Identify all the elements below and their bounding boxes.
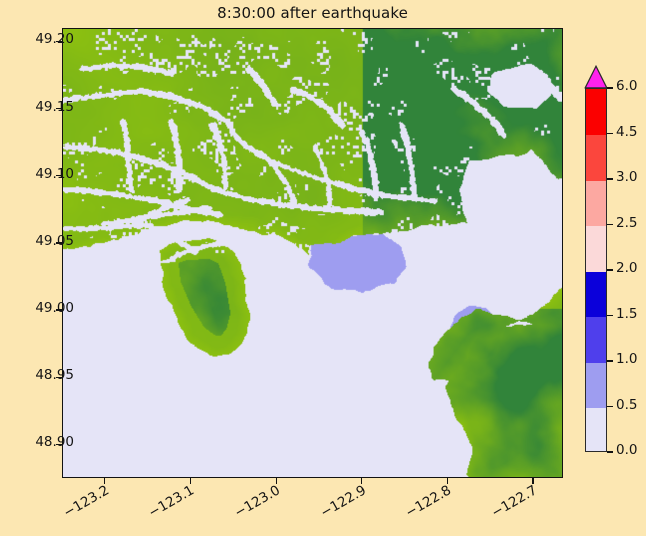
colorbar-segment (586, 271, 606, 317)
y-tick-label: 49.20 (35, 33, 74, 47)
colorbar-tick-mark (607, 406, 613, 407)
colorbar-segment (586, 135, 606, 181)
colorbar[interactable] (585, 88, 607, 452)
colorbar-segment (586, 89, 606, 135)
colorbar-segment (586, 408, 606, 453)
y-tick-label: 48.95 (35, 369, 74, 383)
colorbar-gradient (585, 88, 607, 452)
colorbar-extend-outline-icon (584, 65, 608, 89)
y-tick-label: 48.90 (35, 436, 74, 450)
colorbar-tick-mark (607, 224, 613, 225)
x-tick-label: −122.9 (308, 484, 368, 527)
y-tick-label: 49.15 (35, 101, 74, 115)
y-tick-label: 49.10 (35, 168, 74, 182)
x-tick-label: −123.1 (137, 484, 197, 527)
colorbar-segment (586, 362, 606, 408)
colorbar-tick-mark (607, 178, 613, 179)
map-raster (63, 29, 562, 477)
colorbar-tick-label: 0.0 (616, 444, 637, 458)
colorbar-tick-mark (607, 87, 613, 88)
x-tick-label: −122.7 (479, 484, 539, 527)
colorbar-tick-mark (607, 451, 613, 452)
y-tick-label: 49.00 (35, 302, 74, 316)
colorbar-tick-mark (607, 360, 613, 361)
colorbar-segment (586, 180, 606, 226)
x-tick-label: −123.0 (222, 484, 282, 527)
y-tick-label: 49.05 (35, 235, 74, 249)
map-plot-area[interactable] (62, 28, 563, 478)
x-tick-label: −123.2 (51, 484, 111, 527)
x-tick-label: −122.8 (394, 484, 454, 527)
colorbar-segment (586, 317, 606, 363)
colorbar-tick-label: 3.0 (616, 171, 637, 185)
colorbar-tick-label: 0.5 (616, 399, 637, 413)
colorbar-tick-mark (607, 133, 613, 134)
colorbar-tick-label: 1.0 (616, 353, 637, 367)
colorbar-tick-label: 4.5 (616, 126, 637, 140)
page-title: 8:30:00 after earthquake (0, 4, 625, 22)
colorbar-tick-mark (607, 315, 613, 316)
colorbar-segment (586, 226, 606, 272)
colorbar-tick-label: 2.5 (616, 217, 637, 231)
colorbar-tick-label: 6.0 (616, 80, 637, 94)
colorbar-tick-label: 1.5 (616, 308, 637, 322)
colorbar-tick-mark (607, 269, 613, 270)
colorbar-tick-label: 2.0 (616, 262, 637, 276)
